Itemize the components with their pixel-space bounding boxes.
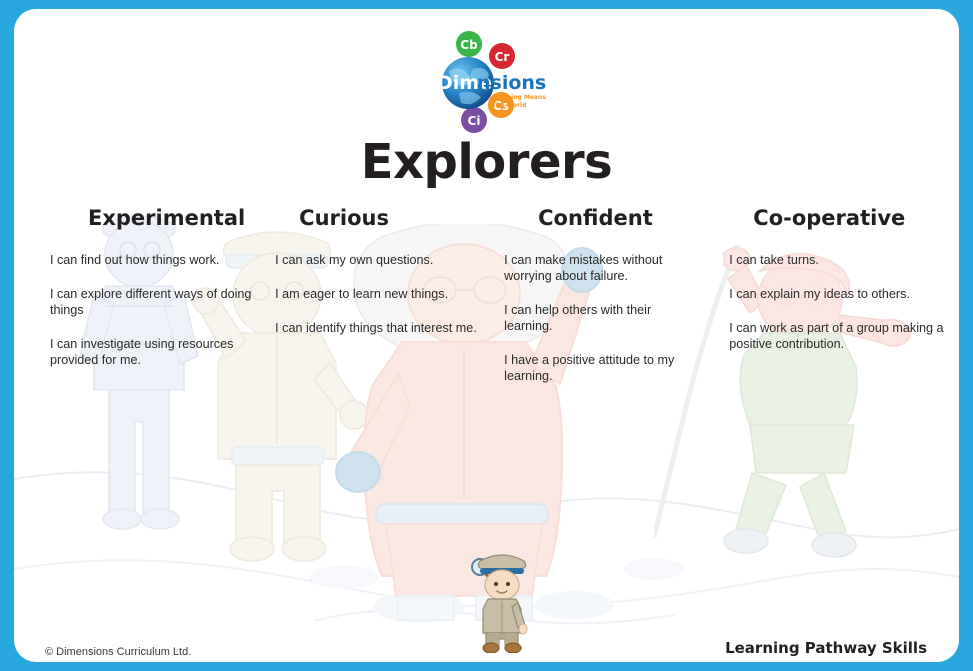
skills-columns: Experimental I can find out how things w…: [14, 206, 959, 402]
badge-cb-icon: Cb: [456, 31, 482, 57]
svg-text:Cr: Cr: [495, 50, 510, 64]
skill-statement: I have a positive attitude to my learnin…: [504, 352, 719, 384]
poster-page: Cb Cr Cs Ci Dime nsions: [14, 9, 959, 662]
skill-statement: I can work as part of a group making a p…: [729, 320, 959, 352]
skill-statement: I can find out how things work.: [50, 252, 265, 268]
svg-text:Ci: Ci: [468, 114, 481, 128]
column-heading: Co-operative: [729, 206, 959, 230]
skill-column-cooperative: Co-operative I can take turns. I can exp…: [719, 206, 959, 402]
skill-column-curious: Curious I can ask my own questions. I am…: [265, 206, 496, 402]
column-heading: Experimental: [50, 206, 265, 230]
skill-statement: I can investigate using resources provid…: [50, 336, 265, 368]
footer-tagline: Learning Pathway Skills: [725, 639, 927, 657]
column-heading: Confident: [504, 206, 719, 230]
badge-ci-icon: Ci: [461, 107, 487, 133]
copyright-text: © Dimensions Curriculum Ltd.: [45, 646, 191, 658]
dimensions-logo: Cb Cr Cs Ci Dime nsions: [429, 27, 549, 137]
skill-statement: I am eager to learn new things.: [275, 286, 496, 302]
logo-tagline-line1: Learning Means: [492, 94, 546, 101]
explorer-boy-icon: [466, 545, 538, 653]
skill-column-experimental: Experimental I can find out how things w…: [14, 206, 265, 402]
skill-statement: I can make mistakes without worrying abo…: [504, 252, 719, 284]
skill-statement: I can help others with their learning.: [504, 302, 719, 334]
skill-statement: I can explain my ideas to others.: [729, 286, 959, 302]
column-heading: Curious: [275, 206, 496, 230]
skill-statement: I can ask my own questions.: [275, 252, 496, 268]
logo-tagline-line2: The World: [492, 102, 526, 109]
skill-column-confident: Confident I can make mistakes without wo…: [496, 206, 719, 402]
skill-statement: I can identify things that interest me.: [275, 320, 496, 336]
svg-text:Cb: Cb: [460, 38, 478, 52]
page-title: Explorers: [14, 134, 959, 190]
skill-statement: I can take turns.: [729, 252, 959, 268]
skill-statement: I can explore different ways of doing th…: [50, 286, 265, 318]
badge-cr-icon: Cr: [489, 43, 515, 69]
logo-wordmark-part2: nsions: [477, 72, 546, 94]
